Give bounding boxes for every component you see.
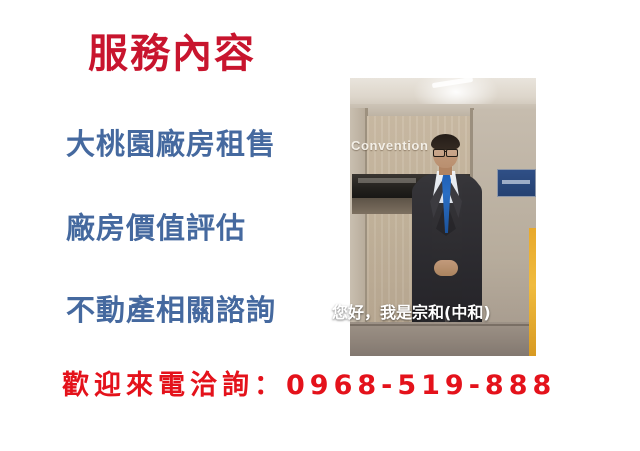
photo-caption: 您好，我是宗和(中和) [332,305,491,321]
service-item-1: 大桃園廠房租售 [66,130,276,159]
photo-counter-highlight [358,178,416,183]
photo-person-arm-right [462,182,482,310]
glasses-icon [433,149,458,155]
photo-blue-plaque [497,169,536,197]
photo-floor-edge [350,324,536,326]
photo-accent-strip [529,228,536,356]
photo-person-hands [434,260,458,276]
service-item-2: 廠房價值評估 [66,214,246,243]
photo-floor [350,322,536,356]
page-title: 服務內容 [88,34,256,74]
service-item-3: 不動產相關諮詢 [66,296,276,325]
photo-person-arm-left [412,182,432,310]
slide-canvas: 服務內容 大桃園廠房租售 廠房價值評估 不動產相關諮詢 歡迎來電洽詢：0968-… [0,0,640,451]
photo-person-hair [431,134,460,150]
contact-phone-line: 歡迎來電洽詢：0968-519-888 [62,372,556,399]
